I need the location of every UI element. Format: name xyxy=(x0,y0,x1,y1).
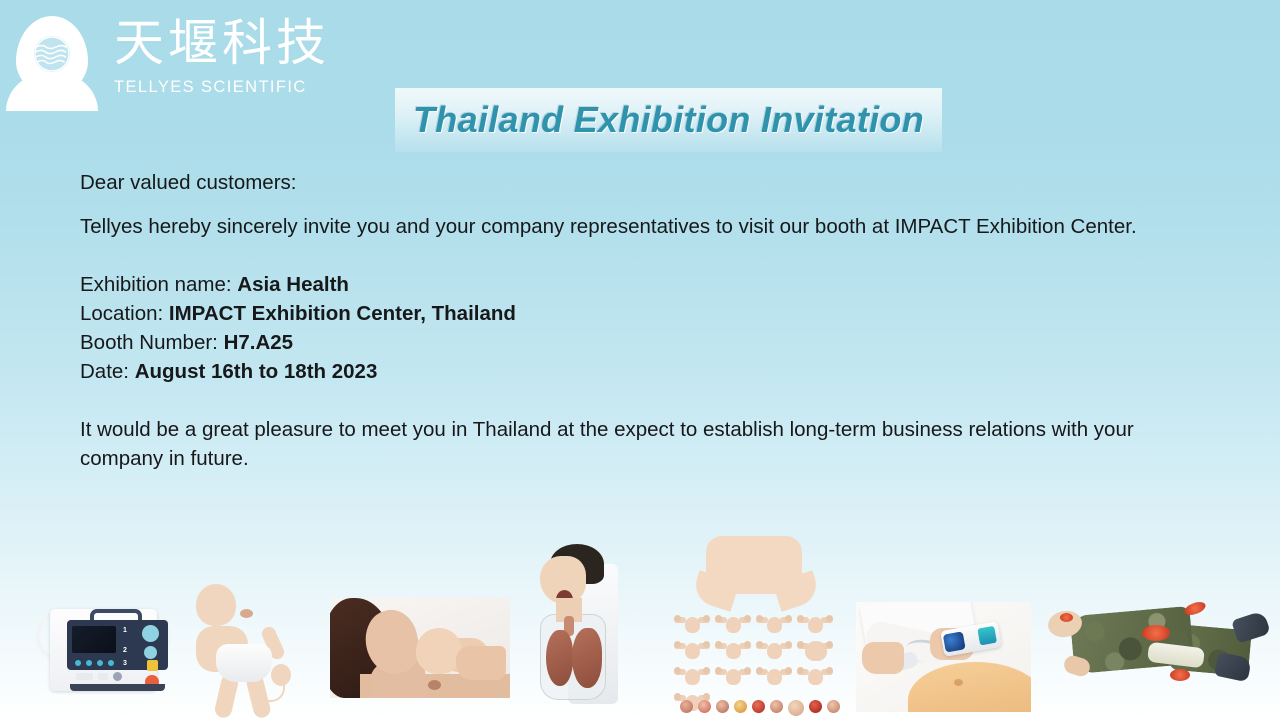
trauma-wound xyxy=(1060,613,1073,622)
step-3-label: 3 xyxy=(123,660,127,667)
uterus-model-grid xyxy=(674,614,842,714)
cervix-pathology-samples xyxy=(680,700,840,716)
brand-english-name: TELLYES SCIENTIFIC xyxy=(114,78,330,97)
uterus-model xyxy=(797,614,833,636)
clinician-hand-left xyxy=(862,642,904,674)
soft-button-1 xyxy=(76,673,93,680)
infant-cpr-manikin xyxy=(196,584,291,714)
uterus-model xyxy=(674,614,710,636)
detail-exhibition-name: Exhibition name: Asia Health xyxy=(80,270,1230,299)
supporting-hand xyxy=(456,646,506,680)
fetal-ultrasound-simulation-photo xyxy=(856,602,1031,712)
defibrillator-body: 1 2 3 xyxy=(50,609,157,691)
military-trauma-casualty-manikin xyxy=(1020,593,1270,708)
indicator-leds xyxy=(75,660,114,666)
detail-booth-number: Booth Number: H7.A25 xyxy=(80,328,1230,357)
inflation-bulb xyxy=(271,664,291,686)
detail-label: Exhibition name: xyxy=(80,273,237,296)
cervix-sample xyxy=(809,700,822,713)
combat-boot-right xyxy=(1231,610,1271,643)
uterus-model-enlarged xyxy=(797,640,833,662)
trauma-wound xyxy=(1142,625,1170,641)
uterus-model xyxy=(715,666,751,688)
logo-wordmark: TELLYES xyxy=(12,96,104,113)
cervix-sample xyxy=(788,700,804,716)
globe-waves-icon xyxy=(34,36,70,72)
intro-paragraph: Tellyes hereby sincerely invite you and … xyxy=(80,212,1230,241)
cervix-sample xyxy=(698,700,711,713)
maternal-breastfeeding-model xyxy=(330,598,510,698)
title-banner: Thailand Exhibition Invitation xyxy=(395,88,942,152)
device-base xyxy=(70,684,165,691)
cervix-sample xyxy=(716,700,729,713)
detail-value: August 16th to 18th 2023 xyxy=(135,360,378,383)
product-image-strip: 1 2 3 xyxy=(0,520,1280,720)
pregnant-abdomen-simulator xyxy=(908,662,1031,712)
uterus-model xyxy=(715,614,751,636)
detail-date: Date: August 16th to 18th 2023 xyxy=(80,357,1230,386)
detail-value: Asia Health xyxy=(237,273,349,296)
defibrillator-monitor: 1 2 3 xyxy=(36,601,171,696)
airway-intubation-manikin xyxy=(528,542,628,712)
detail-location: Location: IMPACT Exhibition Center, Thai… xyxy=(80,299,1230,328)
lung-left xyxy=(546,630,573,686)
detail-label: Date: xyxy=(80,360,135,383)
step-2-label: 2 xyxy=(123,647,127,654)
salutation: Dear valued customers: xyxy=(80,168,1230,197)
uterus-model xyxy=(756,614,792,636)
uterus-model xyxy=(715,640,751,662)
infant-head xyxy=(196,584,236,626)
control-panel: 1 2 3 xyxy=(67,620,168,670)
infant-mouth xyxy=(240,609,253,618)
uterus-model xyxy=(756,640,792,662)
device-blue-panel xyxy=(943,631,966,652)
infant-diaper xyxy=(216,644,272,682)
monitor-screen xyxy=(72,626,116,653)
cervix-sample xyxy=(827,700,840,713)
detail-label: Booth Number: xyxy=(80,331,224,354)
trauma-wound xyxy=(1170,669,1190,681)
soft-button-2 xyxy=(98,673,108,680)
uterus-model xyxy=(674,640,710,662)
cervix-sample xyxy=(752,700,765,713)
infant-head xyxy=(416,628,462,674)
cervix-sample xyxy=(680,700,693,713)
detail-value: IMPACT Exhibition Center, Thailand xyxy=(169,302,516,325)
device-display-screen xyxy=(977,626,997,646)
closing-paragraph: It would be a great pleasure to meet you… xyxy=(80,415,1190,473)
charge-button xyxy=(147,660,158,671)
uterus-model xyxy=(756,666,792,688)
page-title: Thailand Exhibition Invitation xyxy=(413,99,924,141)
step-1-label: 1 xyxy=(123,627,127,634)
cervix-sample xyxy=(770,700,783,713)
lung-right xyxy=(572,628,602,688)
invitation-body: Dear valued customers: Tellyes hereby si… xyxy=(80,168,1230,473)
uterus-model xyxy=(797,666,833,688)
brand-logo-block: TELLYES 天堰科技 TELLYES SCIENTIFIC xyxy=(12,14,330,114)
gynecological-training-model-set xyxy=(672,536,842,716)
detail-value: H7.A25 xyxy=(224,331,294,354)
brand-chinese-name: 天堰科技 xyxy=(114,18,330,68)
cervix-sample xyxy=(734,700,747,713)
power-knob xyxy=(113,672,122,681)
manikin-face xyxy=(540,556,586,604)
energy-dial xyxy=(142,625,159,642)
mode-dial xyxy=(144,646,157,659)
detail-label: Location: xyxy=(80,302,169,325)
uterus-model xyxy=(674,666,710,688)
tellyes-dome-globe-logo: TELLYES xyxy=(12,14,92,114)
breast-detail xyxy=(428,680,441,690)
trauma-wound xyxy=(1183,600,1207,618)
navel-detail xyxy=(954,679,963,686)
